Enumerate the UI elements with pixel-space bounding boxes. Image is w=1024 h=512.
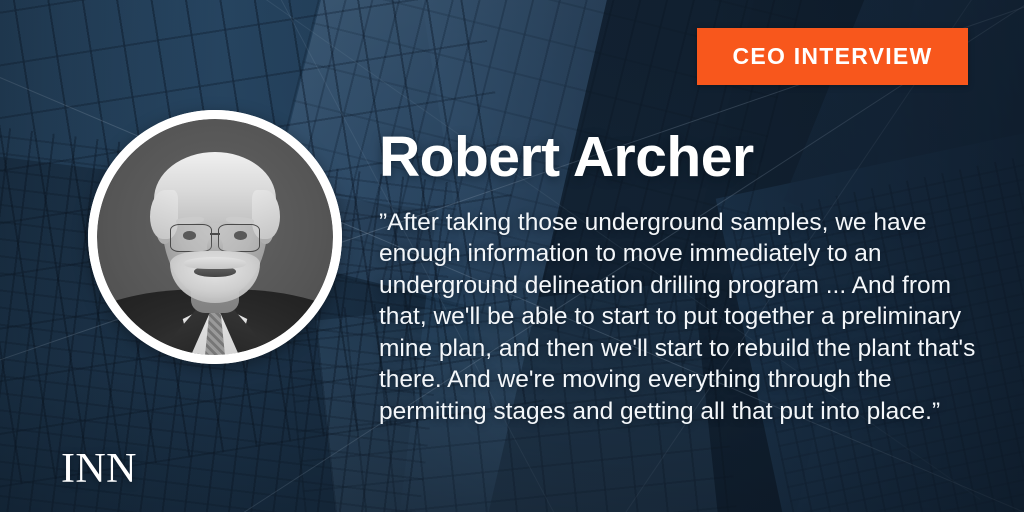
- avatar: [88, 110, 342, 364]
- ceo-interview-badge: CEO INTERVIEW: [697, 28, 968, 85]
- page-title: Robert Archer: [379, 129, 754, 186]
- badge-label: CEO INTERVIEW: [732, 43, 932, 70]
- ceo-interview-card: CEO INTERVIEW: [0, 0, 1024, 512]
- avatar-ring-border: [88, 110, 342, 364]
- quote-text: ”After taking those underground samples,…: [379, 207, 979, 427]
- inn-logo: INN: [61, 445, 137, 493]
